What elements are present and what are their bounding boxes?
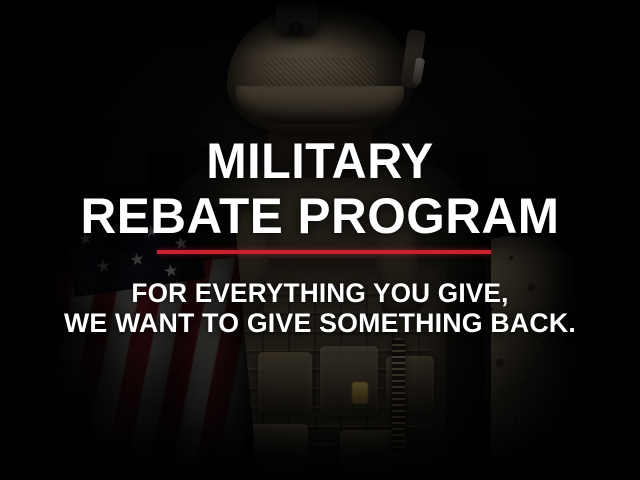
- headline-line-1: MILITARY: [10, 136, 631, 186]
- subheading-line-1: FOR EVERYTHING YOU GIVE,: [10, 278, 631, 309]
- subheading-line-2: WE WANT TO GIVE SOMETHING BACK.: [3, 308, 637, 339]
- poster-text-overlay: MILITARY REBATE PROGRAM FOR EVERYTHING Y…: [0, 0, 640, 480]
- headline-line-2: REBATE PROGRAM: [3, 191, 637, 241]
- red-divider-rule: [157, 250, 491, 254]
- military-rebate-program-poster: MILITARY REBATE PROGRAM FOR EVERYTHING Y…: [0, 0, 640, 480]
